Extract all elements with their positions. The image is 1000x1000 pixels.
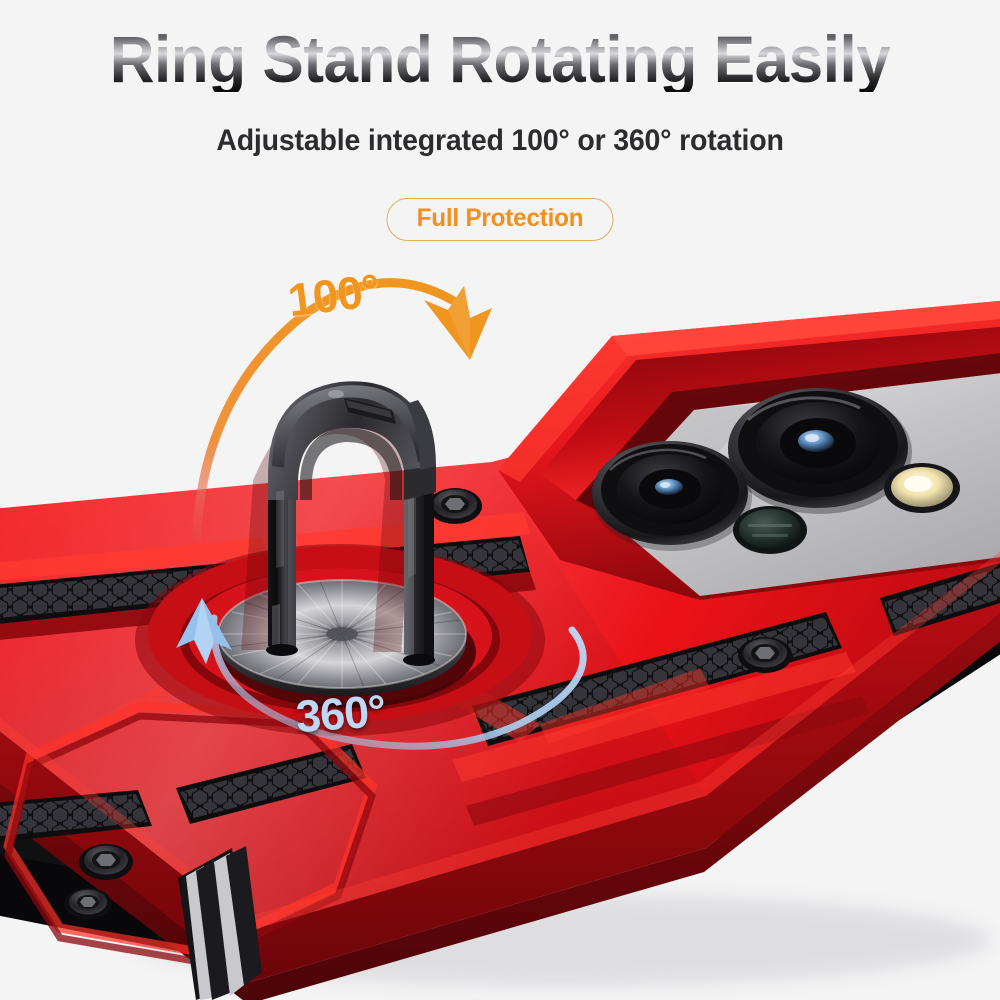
screw-top-right [428,488,482,524]
camera-flash [884,463,960,513]
screw-lower-left-a [79,844,133,880]
badge-container: Full Protection [0,198,1000,241]
camera-sensor [733,506,807,554]
screw-lower-left-b [64,888,112,920]
tilt-angle-label: 100° [285,263,382,328]
screw-mid-right [738,637,792,673]
rotation-angle-label: 360° [294,685,386,743]
page-subtitle: Adjustable integrated 100° or 360° rotat… [25,124,975,158]
product-marketing-image: Ring Stand Rotating Easily Adjustable in… [0,0,1000,1000]
full-protection-badge: Full Protection [386,198,613,241]
page-title: Ring Stand Rotating Easily [30,26,970,92]
